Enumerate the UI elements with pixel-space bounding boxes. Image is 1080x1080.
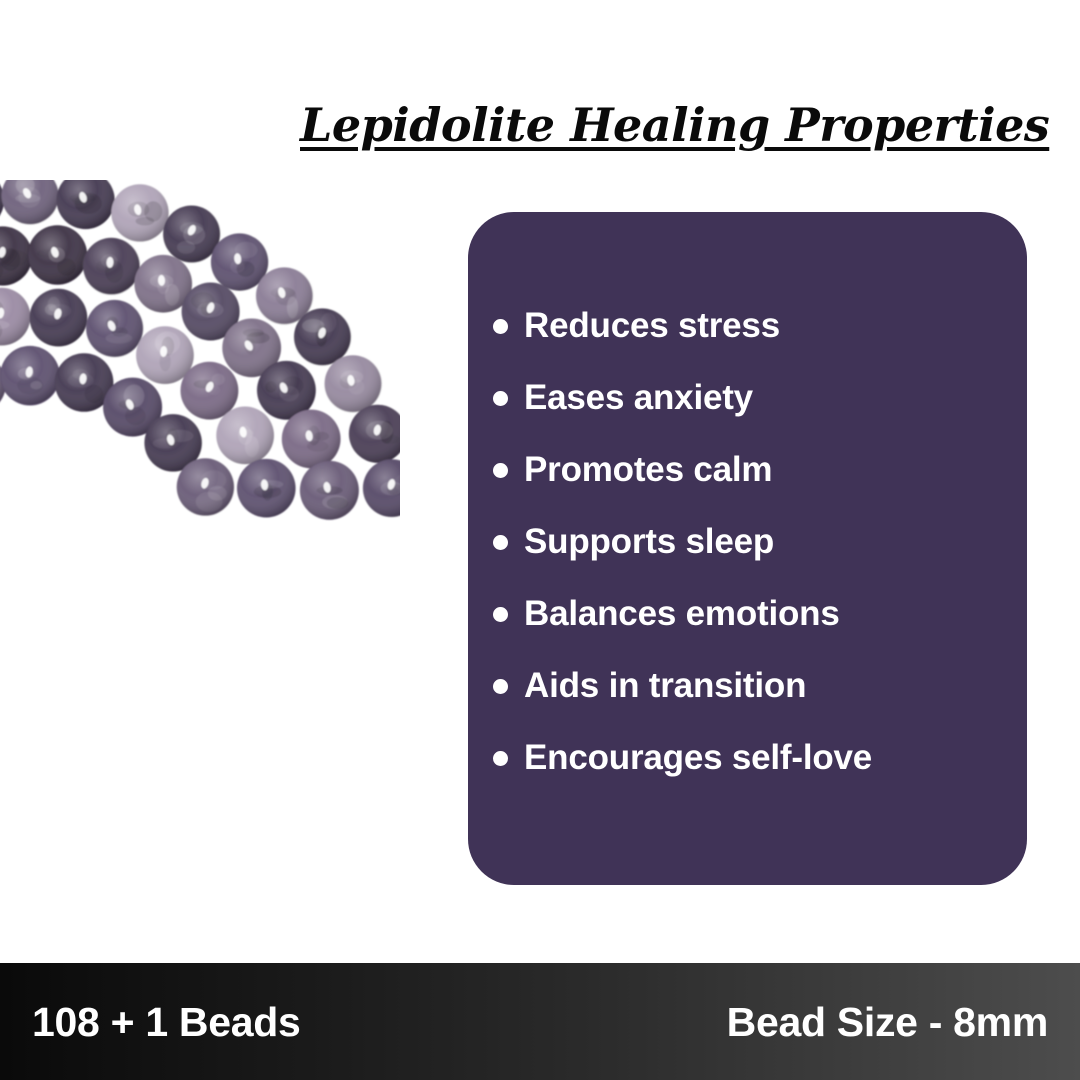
- list-item-label: Eases anxiety: [524, 378, 753, 418]
- bead-size-label: Bead Size - 8mm: [727, 999, 1048, 1045]
- list-item: Aids in transition: [493, 650, 1009, 722]
- bullet-icon: [493, 751, 508, 766]
- healing-properties-list: Reduces stress Eases anxiety Promotes ca…: [493, 290, 1009, 794]
- list-item-label: Reduces stress: [524, 306, 780, 346]
- list-item: Reduces stress: [493, 290, 1009, 362]
- list-item: Promotes calm: [493, 434, 1009, 506]
- bullet-icon: [493, 607, 508, 622]
- bullet-icon: [493, 679, 508, 694]
- bullet-icon: [493, 535, 508, 550]
- list-item-label: Aids in transition: [524, 666, 806, 706]
- list-item: Supports sleep: [493, 506, 1009, 578]
- product-photo: [0, 180, 400, 960]
- list-item: Balances emotions: [493, 578, 1009, 650]
- spec-bar: 108 + 1 Beads Bead Size - 8mm: [0, 963, 1080, 1080]
- bullet-icon: [493, 391, 508, 406]
- bead-strand-illustration: [0, 180, 400, 960]
- bullet-icon: [493, 463, 508, 478]
- list-item: Eases anxiety: [493, 362, 1009, 434]
- list-item-label: Promotes calm: [524, 450, 772, 490]
- list-item: Encourages self-love: [493, 722, 1009, 794]
- healing-properties-card: Reduces stress Eases anxiety Promotes ca…: [468, 212, 1027, 885]
- infographic-canvas: Lepidolite Healing Properties Reduce: [0, 0, 1080, 1080]
- list-item-label: Supports sleep: [524, 522, 774, 562]
- list-item-label: Balances emotions: [524, 594, 840, 634]
- page-title: Lepidolite Healing Properties: [300, 99, 986, 151]
- bullet-icon: [493, 319, 508, 334]
- list-item-label: Encourages self-love: [524, 738, 872, 778]
- bead-count-label: 108 + 1 Beads: [32, 999, 301, 1045]
